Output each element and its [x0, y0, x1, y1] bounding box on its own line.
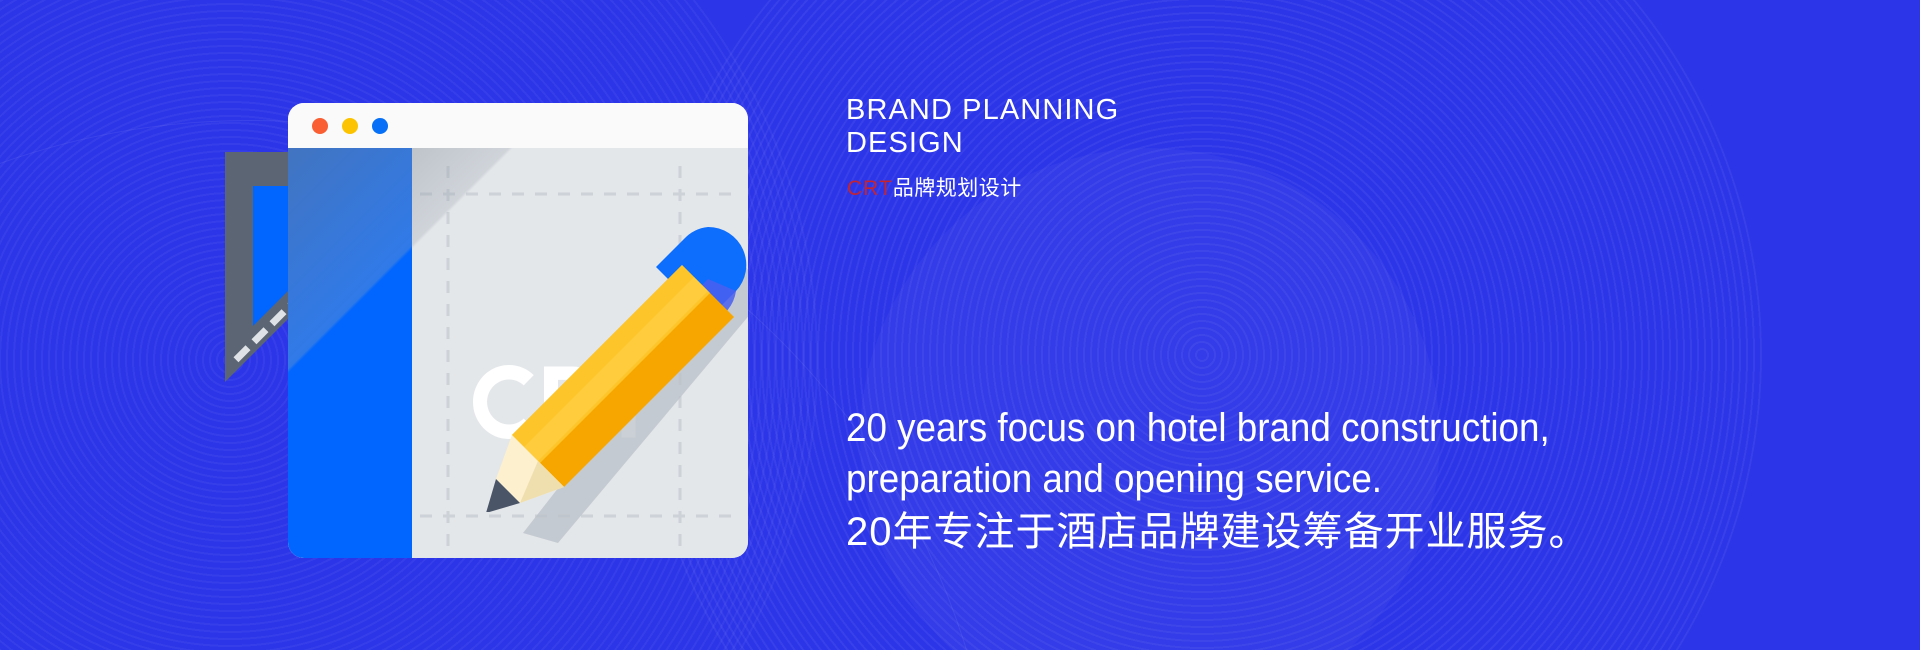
headline-english: 20 years focus on hotel brand constructi…	[846, 403, 1803, 505]
brand-mark-crt: CRT	[847, 177, 893, 200]
minimize-dot-icon[interactable]	[342, 118, 358, 134]
brand-banner: BRAND PLANNING DESIGN CRT品牌规划设计 20 years…	[0, 0, 1920, 650]
kicker-english: BRAND PLANNING DESIGN	[846, 94, 1406, 160]
close-dot-icon[interactable]	[312, 118, 328, 134]
maximize-dot-icon[interactable]	[372, 118, 388, 134]
pencil-icon	[470, 222, 760, 512]
window-title-bar	[288, 103, 748, 148]
copy-column: BRAND PLANNING DESIGN CRT品牌规划设计 20 years…	[846, 0, 1920, 650]
hero-illustration	[0, 0, 840, 650]
headline-chinese: 20年专注于酒店品牌建设筹备开业服务。	[846, 507, 1590, 557]
kicker-chinese-label: 品牌规划设计	[893, 177, 1022, 200]
kicker-chinese: CRT品牌规划设计	[847, 172, 1022, 202]
